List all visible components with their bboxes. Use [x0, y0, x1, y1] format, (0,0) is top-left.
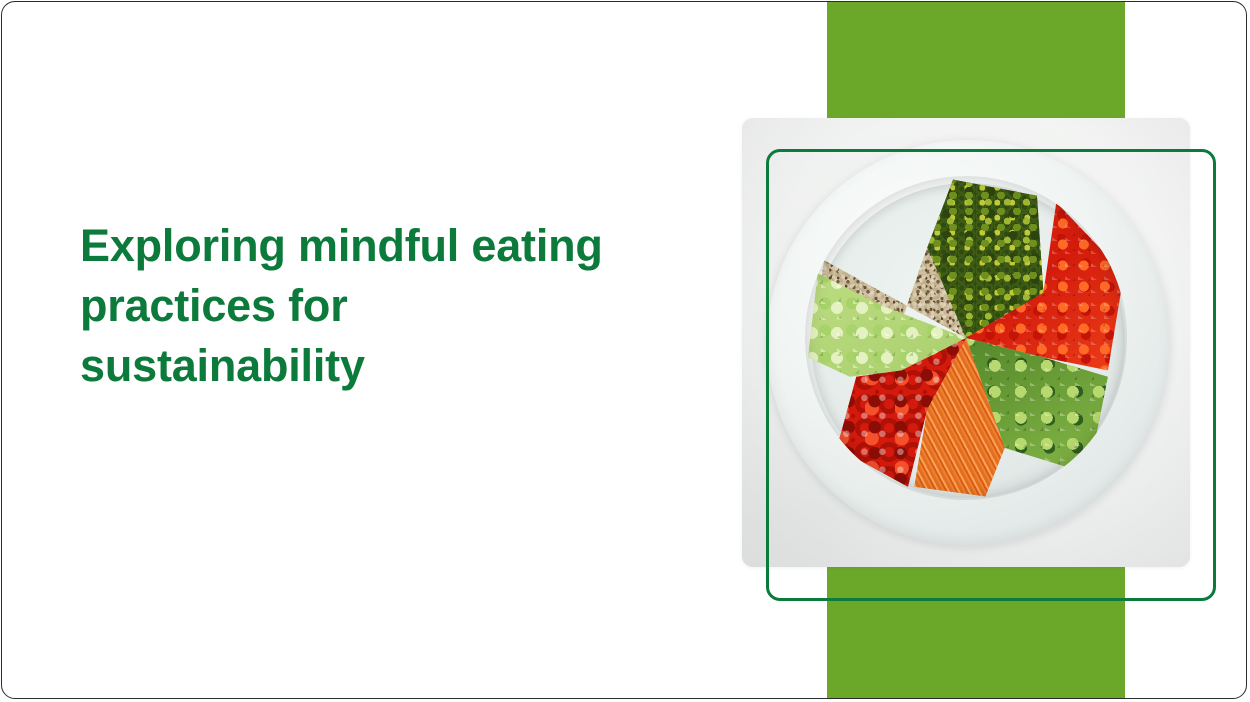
slide-canvas: Exploring mindful eating practices for s… [1, 1, 1247, 699]
title-block: Exploring mindful eating practices for s… [80, 216, 680, 396]
page-title: Exploring mindful eating practices for s… [80, 216, 680, 396]
outline-frame [766, 149, 1216, 601]
